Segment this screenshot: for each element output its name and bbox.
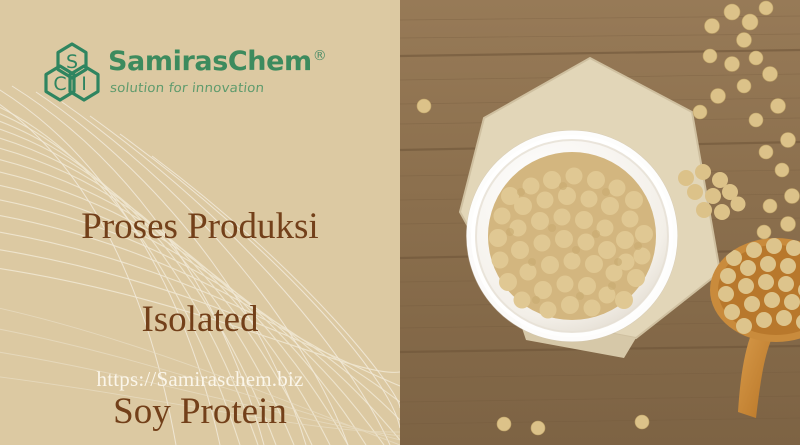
page-title-line-1: Proses Produksi	[0, 204, 400, 250]
hexagon-sci-logo-icon: S C I	[44, 42, 100, 102]
logo-text-group: SamirasChem ® solution for innovation	[108, 48, 327, 96]
promo-banner: S C I SamirasChem ® solution for innovat…	[0, 0, 800, 445]
brand-logo[interactable]: S C I SamirasChem ® solution for innovat…	[44, 42, 327, 102]
svg-text:I: I	[81, 73, 87, 95]
page-title-line-3: Soy Protein	[0, 389, 400, 435]
logo-wordmark: SamirasChem	[108, 48, 312, 75]
website-url[interactable]: https://Samiraschem.biz	[0, 367, 400, 392]
page-title-line-2: Isolated	[0, 297, 400, 343]
page-title: Proses Produksi Isolated Soy Protein	[0, 158, 400, 445]
registered-trademark-icon: ®	[313, 49, 327, 63]
logo-wordmark-row: SamirasChem ®	[108, 48, 327, 75]
soybean-photo	[400, 0, 800, 445]
svg-text:S: S	[66, 51, 78, 73]
svg-text:C: C	[53, 73, 66, 95]
logo-tagline: solution for innovation	[109, 83, 327, 96]
left-text-panel: S C I SamirasChem ® solution for innovat…	[0, 0, 400, 445]
